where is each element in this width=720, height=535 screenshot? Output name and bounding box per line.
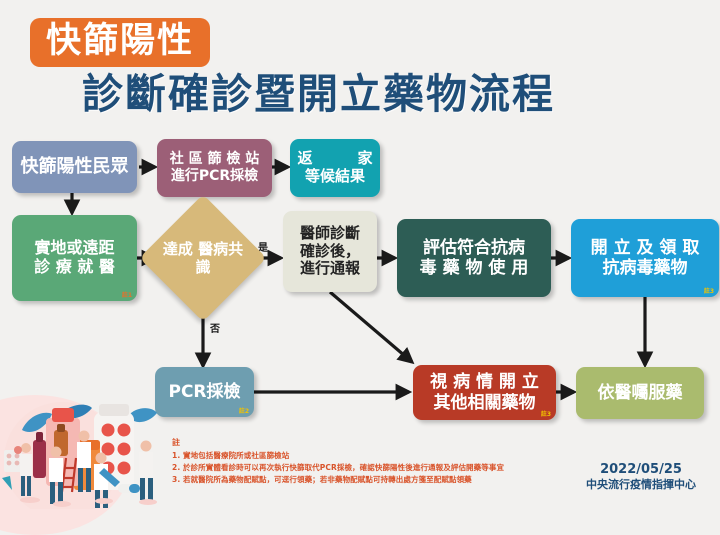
footnote-item-3: 3. 若就醫院所為藥物配賦點，可逕行領藥；若非藥物配賦點可持轉出處方箋至配賦點領… [172, 474, 504, 486]
node-prescribe-other-medications[interactable]: 視 病 情 開 立 其他相關藥物 註3 [413, 365, 556, 420]
node-label-line2: 抗病毒藥物 [591, 258, 700, 278]
node-return-home-wait-result[interactable]: 返 家 等候結果 [290, 139, 380, 197]
title-badge: 快篩陽性 [30, 18, 210, 67]
node-onsite-or-telemedicine-visit[interactable]: 實地或遠距 診 療 就 醫 註1 [12, 215, 137, 301]
node-label-line1: 返 家 [297, 150, 372, 168]
node-label-line1: 視 病 情 開 立 [430, 372, 539, 392]
node-take-medication-as-directed[interactable]: 依醫囑服藥 [576, 367, 704, 419]
footnote-marker-3b: 註3 [541, 411, 551, 418]
node-label-line1: 達成 [163, 240, 193, 258]
node-label-line2: 毒 藥 物 使 用 [420, 258, 529, 278]
node-label-line2: 等候結果 [297, 168, 372, 186]
node-label-line1: 評估符合抗病 [420, 238, 529, 258]
node-label-line2: 確診後， [300, 243, 360, 261]
node-label: PCR採檢 [168, 382, 240, 402]
node-label-line2: 其他相關藥物 [430, 393, 539, 413]
issuer-name: 中央流行疫情指揮中心 [586, 478, 696, 492]
footnote-marker-1: 註1 [122, 292, 132, 299]
node-label-line2: 診 療 就 醫 [34, 258, 115, 277]
branch-label-no: 否 [210, 320, 220, 335]
node-label-line1: 實地或遠距 [34, 239, 115, 258]
footnote-item-2: 2. 於診所實體看診時可以再次執行快篩取代PCR採檢，確認快篩陽性後進行通報及評… [172, 462, 504, 474]
page-title: 診斷確診暨開立藥物流程 [82, 74, 555, 115]
node-label-line1: 醫師診斷 [300, 225, 360, 243]
node-doctor-diagnosis-report[interactable]: 醫師診斷 確診後， 進行通報 [283, 211, 377, 292]
footnotes: 註 1. 實地包括醫療院所或社區篩檢站 2. 於診所實體看診時可以再次執行快篩取… [172, 437, 504, 485]
node-prescribe-and-collect-antiviral[interactable]: 開 立 及 領 取 抗病毒藥物 註3 [571, 219, 719, 297]
node-rapid-test-positive-public[interactable]: 快篩陽性民眾 [12, 141, 137, 193]
issue-date: 2022/05/25 [586, 462, 696, 478]
node-label-line2: 進行PCR採檢 [170, 168, 260, 185]
node-assess-antiviral-eligibility[interactable]: 評估符合抗病 毒 藥 物 使 用 [397, 219, 551, 297]
node-label: 快篩陽性民眾 [21, 156, 129, 177]
node-label-line1: 社 區 篩 檢 站 [170, 151, 260, 168]
infographic-canvas: 快篩陽性 診斷確診暨開立藥物流程 [0, 0, 720, 509]
node-label-line1: 開 立 及 領 取 [591, 238, 700, 258]
node-decision-doctor-patient-consensus[interactable]: 達成 醫病共識 [158, 213, 248, 303]
footnote-item-1: 1. 實地包括醫療院所或社區篩檢站 [172, 450, 504, 462]
footnotes-heading: 註 [172, 437, 504, 449]
footnote-marker-2: 註2 [239, 408, 249, 415]
node-label-line2: 醫病共識 [195, 240, 243, 276]
pharmacy-illustration [0, 400, 175, 509]
node-label: 依醫囑服藥 [598, 383, 683, 403]
node-community-screening-station[interactable]: 社 區 篩 檢 站 進行PCR採檢 [157, 139, 272, 197]
issuer-stamp: 2022/05/25 中央流行疫情指揮中心 [586, 462, 696, 492]
footnote-marker-3: 註3 [704, 288, 714, 295]
node-label-line3: 進行通報 [300, 260, 360, 278]
